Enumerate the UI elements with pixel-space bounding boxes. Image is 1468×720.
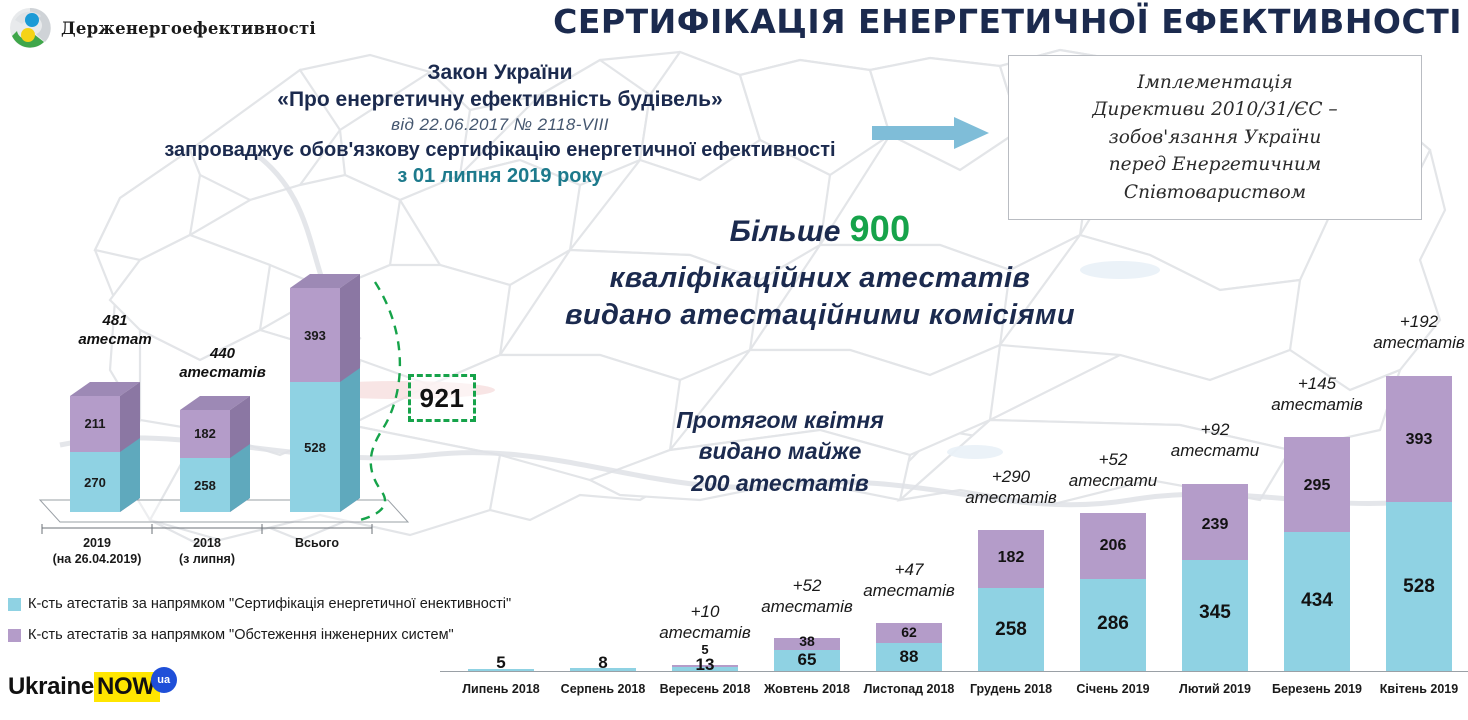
monthly-cyan-value: 528 [1386, 576, 1452, 598]
ukraine-now-logo: Ukraine NOW ua [8, 672, 177, 702]
statement-number: 900 [849, 208, 910, 249]
organization-name: Держенергоефективності [61, 19, 316, 38]
headline-statement: Більше 900 кваліфікаційних атестатів вид… [540, 208, 1100, 332]
chart-legend: К-сть атестатів за напрямком "Сертифікац… [8, 596, 511, 658]
page-title: СЕРТИФІКАЦІЯ ЕНЕРГЕТИЧНОЇ ЕФЕКТИВНОСТІ [553, 2, 1462, 41]
monthly-annotation: +145 атестатів [1247, 373, 1387, 416]
legend-swatch-cyan [8, 598, 21, 611]
bar-total-cyan-value: 528 [290, 440, 340, 455]
monthly-column: 5 13 +10 атестатів [672, 329, 738, 671]
monthly-column: 38 65 +52 атестатів [774, 329, 840, 671]
organization-logo: Держенергоефективності [8, 6, 316, 50]
monthly-bar [1284, 437, 1350, 671]
monthly-purple-value: 62 [876, 624, 942, 640]
bar-2019-cyan-value: 270 [70, 475, 120, 490]
impl-line-3: зобов'язання України [1092, 124, 1337, 151]
impl-line-1: Імплементація [1092, 69, 1337, 96]
monthly-annotation-delta: +290 [992, 467, 1030, 486]
monthly-cyan-value: 286 [1080, 613, 1146, 635]
monthly-x-label: Квітень 2019 [1354, 682, 1468, 696]
statement-prefix: Більше [730, 215, 850, 248]
impl-line-2: Директиви 2010/31/ЄС – [1092, 96, 1337, 123]
monthly-annotation-unit: атестатів [1271, 395, 1363, 414]
impl-line-4: перед Енергетичним [1092, 151, 1337, 178]
monthly-purple-value: 38 [774, 633, 840, 649]
ukraine-now-badge: ua [151, 667, 177, 693]
statement-line-3: видано атестаційними комісіями [540, 299, 1100, 332]
monthly-column: 393 528 +192 атестатів [1386, 329, 1452, 671]
monthly-cyan-value: 258 [978, 619, 1044, 641]
monthly-purple-value: 239 [1182, 516, 1248, 534]
monthly-cyan-value: 13 [672, 655, 738, 675]
law-text-block: Закон України «Про енергетичну ефективні… [40, 60, 960, 190]
impl-line-5: Співтовариством [1092, 179, 1337, 206]
law-line-2: «Про енергетичну ефективність будівель» [40, 87, 960, 114]
monthly-annotation-delta: +52 [793, 576, 822, 595]
bar-2018-purple-value: 182 [180, 426, 230, 441]
april-note-line-2: видано майже [640, 436, 920, 467]
ukraine-now-word-2: NOW [94, 672, 160, 702]
monthly-annotation-delta: +192 [1400, 312, 1438, 331]
monthly-column: 295 434 +145 атестатів [1284, 329, 1350, 671]
monthly-bar [1182, 484, 1248, 671]
legend-label-inspection: К-сть атестатів за напрямком "Обстеження… [28, 627, 454, 643]
annotation-2018: 440 атестатів [165, 345, 280, 383]
monthly-annotation: +192 атестатів [1349, 311, 1468, 354]
bar-total-purple-value: 393 [290, 328, 340, 343]
monthly-annotation-delta: +47 [895, 560, 924, 579]
monthly-column: 239 345 +92 атестати [1182, 329, 1248, 671]
summary-x-label-2019-line1: 2019 [83, 536, 111, 550]
monthly-annotation: +92 атестати [1145, 419, 1285, 462]
annotation-2018-value: 440 [210, 345, 235, 362]
monthly-purple-value: 393 [1386, 431, 1452, 449]
total-callout-value: 921 [420, 383, 465, 414]
legend-swatch-purple [8, 629, 21, 642]
statement-line-2: кваліфікаційних атестатів [540, 262, 1100, 295]
monthly-annotation-delta: +92 [1201, 420, 1230, 439]
monthly-bar [1386, 376, 1452, 671]
monthly-annotation-delta: +145 [1298, 374, 1336, 393]
monthly-cyan-value: 434 [1284, 590, 1350, 612]
monthly-cyan-value: 8 [570, 653, 636, 673]
ukraine-now-word-1: Ukraine [8, 673, 94, 701]
summary-x-label-2018-line2: (з липня) [179, 552, 235, 566]
legend-item-inspection: К-сть атестатів за напрямком "Обстеження… [8, 627, 511, 643]
monthly-annotation-delta: +10 [691, 602, 720, 621]
law-line-1: Закон України [40, 60, 960, 87]
summary-x-label-total-line1: Всього [295, 536, 339, 550]
monthly-purple-value: 206 [1080, 537, 1146, 555]
monthly-annotation-unit: атестатів [1373, 333, 1465, 352]
summary-x-label-2019: 2019 (на 26.04.2019) [37, 535, 157, 568]
monthly-annotation-delta: +52 [1099, 450, 1128, 469]
monthly-purple-value: 182 [978, 549, 1044, 567]
monthly-annotation-unit: атестатів [863, 581, 955, 600]
monthly-cyan-value: 345 [1182, 602, 1248, 624]
bar-2019-purple-value: 211 [70, 416, 120, 431]
law-line-3: від 22.06.2017 № 2118-VIII [40, 114, 960, 136]
annotation-2019-value: 481 [102, 312, 127, 329]
april-note: Протягом квітня видано майже 200 атестат… [640, 405, 920, 499]
energy-globe-logo-icon [8, 6, 52, 50]
implementation-box: Імплементація Директиви 2010/31/ЄС – зоб… [1008, 55, 1422, 220]
summary-x-label-2018-line1: 2018 [193, 536, 221, 550]
legend-label-certification: К-сть атестатів за напрямком "Сертифікац… [28, 596, 511, 612]
total-callout-badge: 921 [408, 374, 476, 422]
monthly-annotation-unit: атестати [1171, 441, 1259, 460]
summary-x-label-2018: 2018 (з липня) [147, 535, 267, 568]
monthly-annotation: +47 атестатів [839, 559, 979, 602]
annotation-2019-unit: атестат [78, 331, 151, 348]
annotation-2018-unit: атестатів [179, 364, 266, 381]
monthly-cyan-value: 88 [876, 647, 942, 667]
monthly-column: 206 286 +52 атестати [1080, 329, 1146, 671]
monthly-purple-value: 295 [1284, 477, 1350, 495]
april-note-line-3: 200 атестатів [640, 468, 920, 499]
summary-x-label-total: Всього [257, 535, 377, 551]
law-line-5: з 01 липня 2019 року [40, 164, 960, 190]
bar-2018-cyan-value: 258 [180, 478, 230, 493]
monthly-column: 8 [570, 329, 636, 671]
annotation-2019: 481 атестат [60, 312, 170, 350]
monthly-annotation-unit: атестати [1069, 471, 1157, 490]
summary-x-label-2019-line2: (на 26.04.2019) [53, 552, 142, 566]
law-line-4: запроваджує обов'язкову сертифікацію ене… [40, 138, 960, 164]
april-note-line-1: Протягом квітня [640, 405, 920, 436]
monthly-column: 62 88 +47 атестатів [876, 329, 942, 671]
monthly-cyan-value: 65 [774, 650, 840, 670]
legend-item-certification: К-сть атестатів за напрямком "Сертифікац… [8, 596, 511, 612]
monthly-column: 182 258 +290 атестатів [978, 329, 1044, 671]
right-arrow-icon [872, 116, 990, 155]
monthly-cumulative-chart: 5 Липень 2018 8 Серпень 2018 5 13 +10 ат… [440, 300, 1468, 700]
monthly-annotation-unit: атестатів [659, 623, 751, 642]
